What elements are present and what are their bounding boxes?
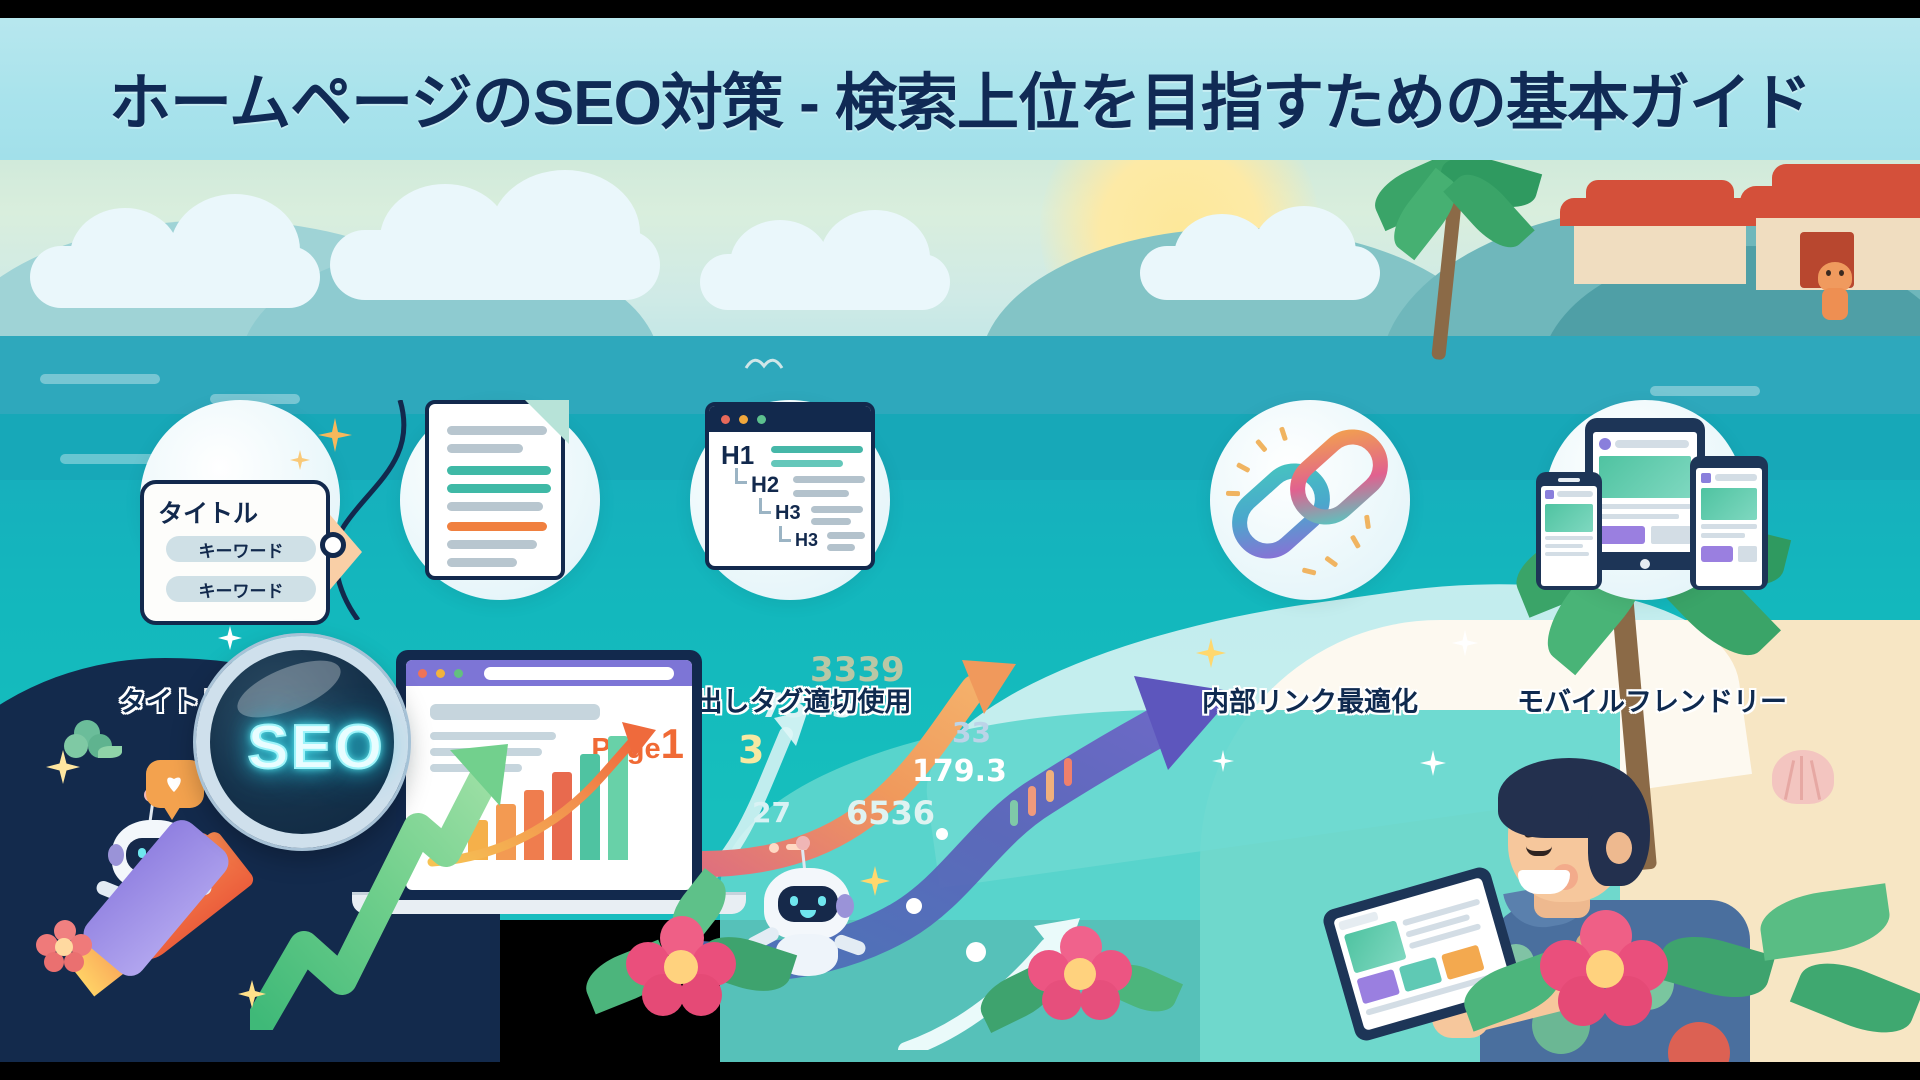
hair bbox=[1588, 776, 1650, 886]
sparkle-icon bbox=[1196, 638, 1226, 668]
ear bbox=[1606, 832, 1632, 864]
window-dot-red bbox=[418, 669, 427, 678]
floating-number: 179.3 bbox=[912, 754, 1007, 789]
sparkle-icon bbox=[238, 980, 266, 1008]
heading-tag-h3: H3 bbox=[775, 502, 801, 525]
cloud bbox=[700, 254, 950, 310]
cloud bbox=[1140, 246, 1380, 300]
keyword-pill: キーワード bbox=[166, 576, 316, 602]
letterbox-top bbox=[0, 0, 1920, 18]
keyword-pill: キーワード bbox=[166, 536, 316, 562]
sparkle-icon bbox=[218, 626, 242, 650]
header-band: ホームページのSEO対策 - 検索上位を目指すための基本ガイド bbox=[0, 18, 1920, 160]
window-dot-green bbox=[757, 415, 766, 424]
smile bbox=[1518, 870, 1570, 894]
green-growth-arrow-icon bbox=[250, 710, 530, 1030]
heading-tag-h3-second: H3 bbox=[795, 530, 818, 551]
floating-number: 3 bbox=[738, 728, 764, 772]
speech-bubble-icon bbox=[146, 760, 204, 808]
window-dot-red bbox=[721, 415, 730, 424]
shisa-statue-icon bbox=[1812, 262, 1858, 320]
icon-label-internal-links: 内部リンク最適化 bbox=[1140, 680, 1480, 719]
chain-link-icon bbox=[1225, 415, 1395, 585]
sparkle-icon bbox=[46, 750, 80, 784]
document-fold bbox=[525, 400, 569, 444]
browser-titlebar bbox=[709, 406, 871, 432]
heading-tag-h2: H2 bbox=[751, 472, 779, 498]
hibiscus-flower-icon bbox=[626, 916, 736, 1016]
sparkle-icon bbox=[1420, 750, 1446, 776]
sparkle-icon bbox=[318, 418, 352, 452]
phone-device-icon bbox=[1536, 472, 1602, 590]
cloud bbox=[30, 246, 320, 308]
letterbox-bottom bbox=[0, 1062, 1920, 1080]
window-dot-yellow bbox=[436, 669, 445, 678]
floating-number: 6536 bbox=[846, 794, 935, 832]
heading-tag-h1: H1 bbox=[721, 440, 754, 471]
price-tag-icon: タイトル キーワード キーワード bbox=[140, 480, 330, 625]
floating-number: 27 bbox=[752, 796, 791, 829]
sparkle-icon bbox=[1212, 750, 1234, 772]
bird-icon bbox=[744, 356, 784, 374]
sparkle-icon bbox=[290, 450, 310, 470]
sparkle-icon bbox=[860, 866, 890, 896]
tag-hole bbox=[320, 532, 346, 558]
scene: タイトル キーワード キーワード タイトルタグ最適化 メタディスクリプション bbox=[0, 150, 1920, 1062]
floating-number: 33 bbox=[952, 716, 991, 749]
window-dot-yellow bbox=[739, 415, 748, 424]
wave bbox=[1650, 386, 1760, 396]
icon-label-mobile-friendly: モバイルフレンドリー bbox=[1482, 680, 1822, 719]
tag-title-text: タイトル bbox=[158, 494, 258, 530]
okinawa-house-icon bbox=[1560, 174, 1760, 284]
flower-icon bbox=[36, 920, 92, 984]
hibiscus-flower-icon bbox=[1540, 910, 1668, 1026]
url-bar[interactable] bbox=[484, 667, 674, 680]
browser-toolbar bbox=[406, 660, 692, 686]
browser-window-icon: H1 H2 H3 H3 bbox=[705, 402, 875, 570]
hibiscus-flower-icon bbox=[1028, 926, 1132, 1022]
illustration-canvas: ホームページのSEO対策 - 検索上位を目指すための基本ガイド bbox=[0, 0, 1920, 1080]
page-title: ホームページのSEO対策 - 検索上位を目指すための基本ガイド bbox=[0, 52, 1920, 142]
tablet-device-icon bbox=[1585, 418, 1705, 570]
cloud bbox=[330, 230, 660, 300]
wave bbox=[40, 374, 160, 384]
man-with-tablet bbox=[1320, 740, 1740, 1062]
phone-device-icon bbox=[1690, 456, 1768, 590]
eye bbox=[1526, 846, 1552, 856]
seashell-icon bbox=[1772, 750, 1834, 804]
window-dot-green bbox=[454, 669, 463, 678]
sparkle-icon bbox=[1452, 630, 1478, 656]
